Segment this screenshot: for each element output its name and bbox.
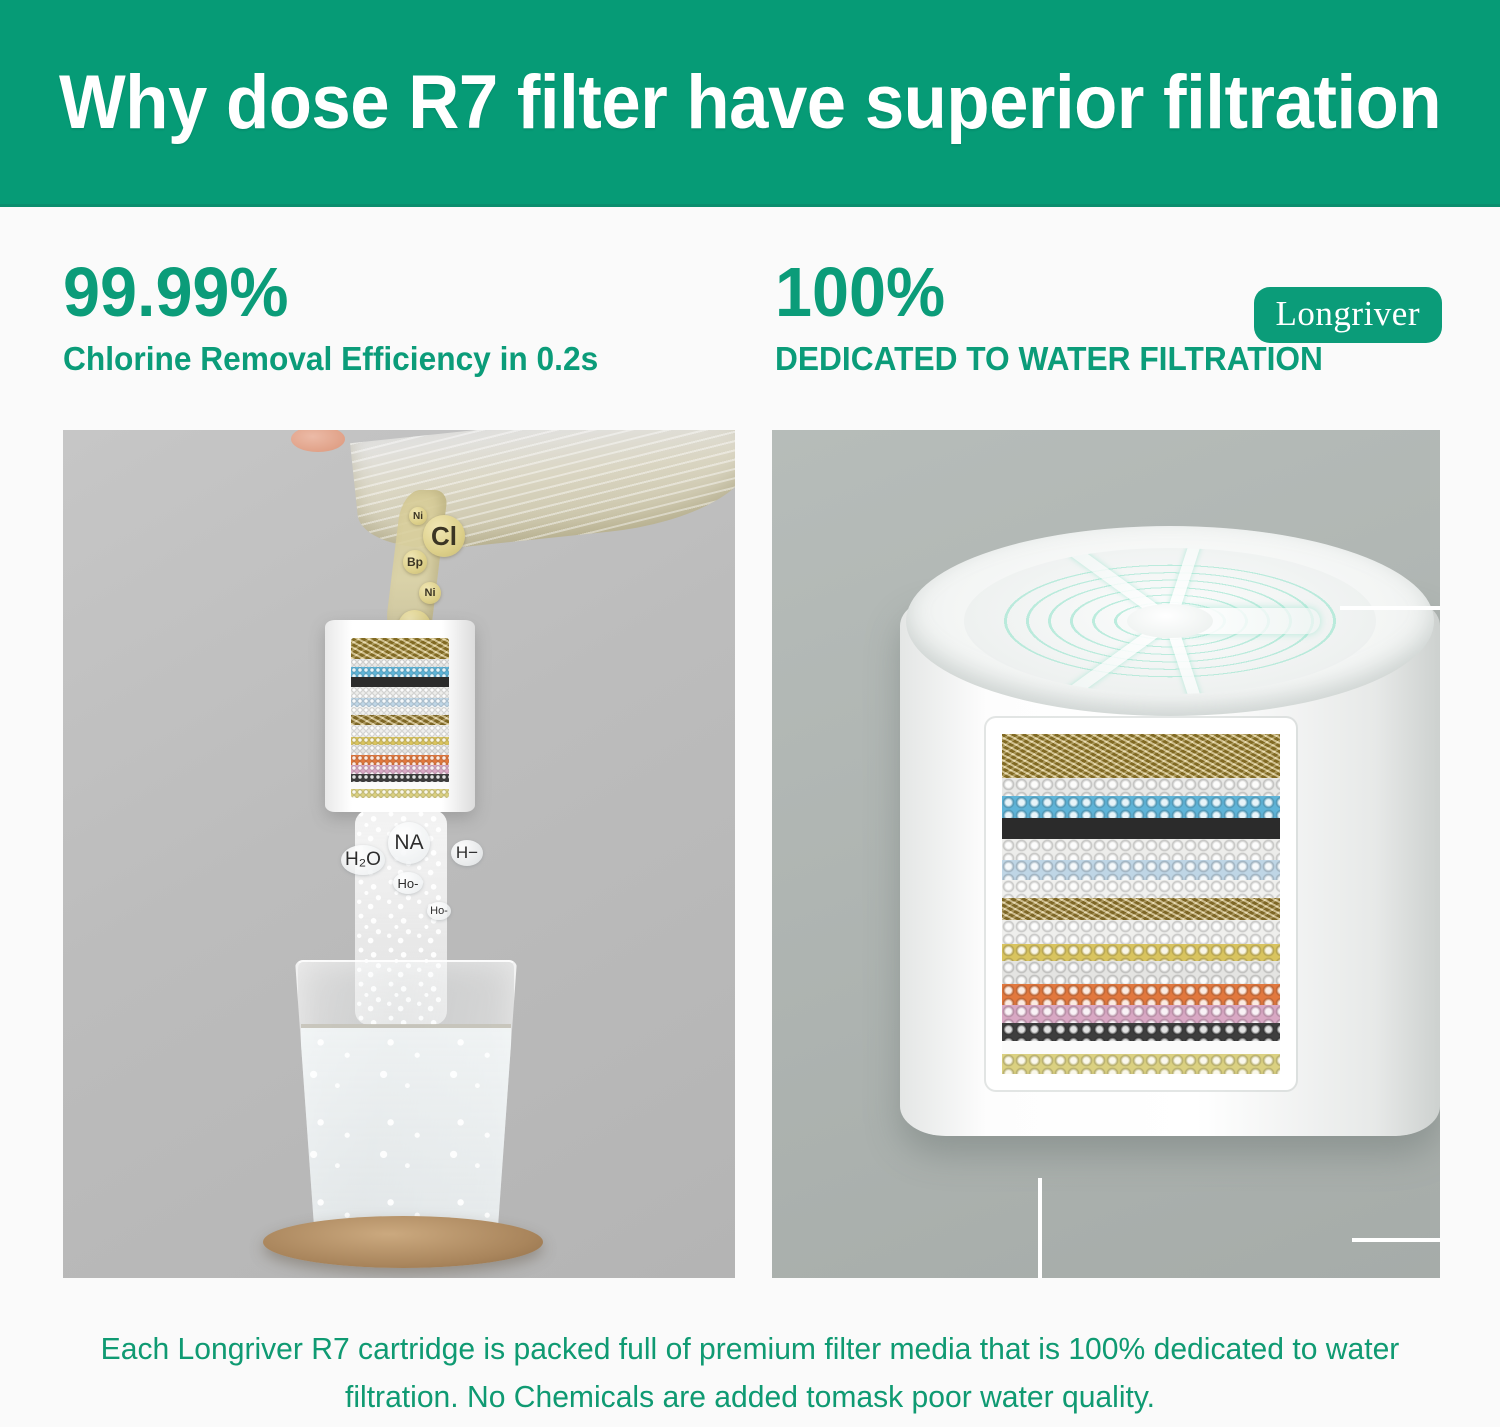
media-layer-dark-grey-beads bbox=[1002, 1023, 1280, 1041]
clean-label-h2o: H₂O bbox=[341, 845, 385, 875]
pitcher-cap bbox=[291, 430, 345, 452]
media-strata-small bbox=[351, 638, 449, 798]
media-layer-white-beads-4 bbox=[351, 725, 449, 737]
media-layer-blue-beads bbox=[1002, 796, 1280, 817]
glass-water-body bbox=[301, 1024, 511, 1229]
page-title: Why dose R7 filter have superior filtrat… bbox=[59, 59, 1441, 146]
media-layer-white-beads-3 bbox=[351, 707, 449, 716]
media-layer-white-beads-1 bbox=[351, 659, 449, 668]
media-layer-white-beads-2 bbox=[1002, 839, 1280, 860]
filter-top-recess bbox=[964, 548, 1376, 694]
media-strata-large bbox=[1002, 734, 1280, 1074]
cutaway-media-window bbox=[986, 718, 1296, 1090]
right-product-photo: 2.68 inches 2.4 inches bbox=[772, 430, 1440, 1278]
dimension-extension-bottom bbox=[1352, 1238, 1440, 1242]
contaminant-label-ni: Ni bbox=[409, 507, 427, 525]
footer-caption: Each Longriver R7 cartridge is packed fu… bbox=[23, 1325, 1478, 1421]
wooden-coaster bbox=[263, 1216, 543, 1268]
header-banner: Why dose R7 filter have superior filtrat… bbox=[0, 0, 1500, 207]
glass-bubbles bbox=[301, 1028, 511, 1229]
media-layer-pink-beads bbox=[351, 765, 449, 774]
stat-chlorine-removal: 99.99% Chlorine Removal Efficiency in 0.… bbox=[63, 255, 621, 379]
stat-number: 99.99% bbox=[63, 255, 593, 329]
stat-caption: Chlorine Removal Efficiency in 0.2s bbox=[63, 339, 598, 379]
impeller-hub bbox=[1127, 604, 1213, 638]
filter-cartridge-small bbox=[325, 620, 475, 812]
media-layer-white-beads-1 bbox=[1002, 778, 1280, 796]
clean-label-na: NA bbox=[388, 822, 430, 864]
media-layer-black-carbon bbox=[1002, 818, 1280, 839]
brand-badge: Longriver bbox=[1254, 287, 1442, 343]
media-layer-white-beads-2 bbox=[351, 687, 449, 697]
media-layer-orange-beads bbox=[351, 755, 449, 765]
media-layer-pale-yellow-beads bbox=[351, 789, 449, 798]
media-layer-gold-shavings bbox=[1002, 898, 1280, 919]
caption-line-2: filtration. No Chemicals are added tomas… bbox=[345, 1379, 1155, 1414]
media-layer-white-foam bbox=[1002, 1041, 1280, 1054]
media-layer-dark-grey-beads bbox=[351, 774, 449, 783]
filter-top-cap bbox=[906, 526, 1434, 716]
media-layer-white-beads-3 bbox=[1002, 880, 1280, 898]
stat-caption: DEDICATED TO WATER FILTRATION bbox=[775, 339, 1323, 379]
contaminant-label-ni-2: Ni bbox=[419, 582, 441, 604]
media-layer-blue-beads bbox=[351, 667, 449, 677]
water-glass bbox=[295, 960, 517, 1240]
caption-line-1: Each Longriver R7 cartridge is packed fu… bbox=[101, 1331, 1400, 1366]
cartridge-media-window bbox=[351, 638, 449, 798]
filter-cartridge-large: 2.68 inches 2.4 inches bbox=[900, 522, 1440, 1144]
contaminant-label-cl: Cl bbox=[423, 515, 465, 557]
media-layer-light-blue-beads bbox=[1002, 860, 1280, 880]
contaminant-label-bp: Bp bbox=[403, 550, 427, 574]
clean-label-h-minus: H− bbox=[451, 840, 483, 866]
media-layer-pale-yellow-beads bbox=[1002, 1054, 1280, 1074]
stat-number: 100% bbox=[775, 255, 1317, 329]
media-layer-yellow-beads bbox=[1002, 944, 1280, 960]
media-layer-brass-shavings bbox=[1002, 734, 1280, 778]
media-layer-white-grey-beads bbox=[1002, 961, 1280, 984]
media-layer-brass-shavings bbox=[351, 638, 449, 659]
media-layer-white-beads-4 bbox=[1002, 920, 1280, 945]
stats-row: 99.99% Chlorine Removal Efficiency in 0.… bbox=[0, 255, 1500, 405]
media-layer-yellow-beads bbox=[351, 737, 449, 745]
clean-label-ho-2: Ho- bbox=[427, 902, 451, 920]
media-layer-white-grey-beads bbox=[351, 745, 449, 756]
dimension-extension-top bbox=[1340, 606, 1440, 610]
media-layer-pink-beads bbox=[1002, 1005, 1280, 1023]
media-layer-light-blue-beads bbox=[351, 698, 449, 707]
left-product-photo: Ni Cl Bp Ni Hg NA H₂O H− Ho- Ho- bbox=[63, 430, 735, 1278]
media-layer-orange-beads bbox=[1002, 984, 1280, 1005]
media-layer-black-carbon bbox=[351, 677, 449, 687]
media-layer-gold-shavings bbox=[351, 715, 449, 725]
clean-label-ho-1: Ho- bbox=[393, 872, 423, 894]
dimension-extension-left bbox=[1038, 1178, 1042, 1278]
